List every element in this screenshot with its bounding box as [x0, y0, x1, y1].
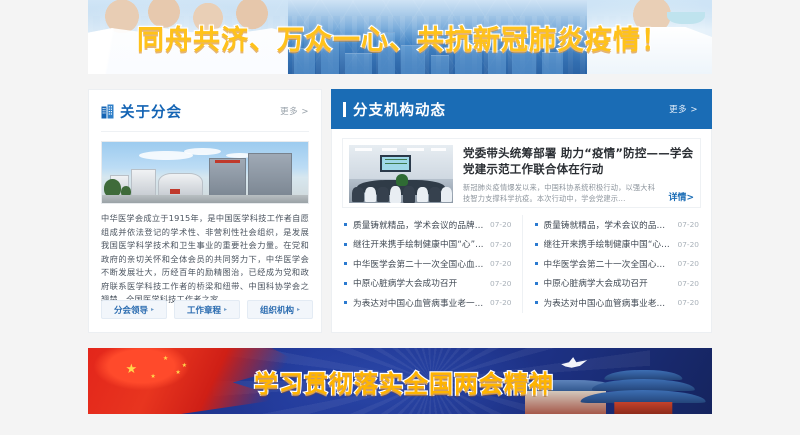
bullet-icon — [344, 282, 347, 285]
list-item-date: 07-20 — [490, 259, 511, 268]
branch-news-header: 分支机构动态 更多 > — [331, 89, 712, 129]
featured-news-title[interactable]: 党委带头统筹部署 助力“疫情”防控——学会党建示范工作联合体在行动 — [463, 145, 694, 178]
about-card-title: 关于分会 — [120, 101, 182, 122]
branch-leaders-label: 分会领导 — [114, 304, 148, 316]
page-root: 同舟共济、万众一心、共抗新冠肺炎疫情！ — [0, 0, 800, 435]
featured-news-description: 新冠肺炎疫情爆发以来，中国科协系统积极行动，以强大科技智力支撑科学抗疫。本次行动… — [463, 182, 660, 205]
news-list-left: 质量铸就精品，学术会议的品牌发... 07-20 继往开来携手绘制健康中国“心”… — [342, 215, 522, 313]
list-item-date: 07-20 — [678, 240, 699, 249]
list-item[interactable]: 中原心脏病学大会成功召开 07-20 — [344, 274, 512, 294]
branch-news-more-link[interactable]: 更多 > — [669, 103, 698, 115]
building-icon — [101, 104, 114, 119]
list-item-date: 07-20 — [490, 279, 511, 288]
bullet-icon — [535, 223, 538, 226]
list-item-title[interactable]: 继往开来携手绘制健康中国“心”... — [544, 238, 672, 250]
bullet-icon — [344, 301, 347, 304]
branch-news-card: 分支机构动态 更多 > — [331, 89, 712, 333]
about-card-body-text: 中华医学会成立于1915年，是中国医学科技工作者自愿组成并依法登记的学术性、非营… — [101, 212, 309, 307]
chevron-right-icon: ▸ — [151, 306, 154, 313]
chevron-right-icon: ▸ — [224, 306, 227, 313]
list-item-date: 07-20 — [678, 259, 699, 268]
list-item[interactable]: 继往开来携手绘制健康中国“心”... 07-20 — [344, 235, 512, 255]
list-item-date: 07-20 — [678, 220, 699, 229]
bullet-icon — [535, 282, 538, 285]
about-card-photo — [101, 141, 309, 204]
list-item-title[interactable]: 为表达对中国心血管病事业老一... — [353, 297, 484, 309]
bottom-banner-slogan: 学习贯彻落实全国两会精神 — [88, 348, 712, 414]
about-card-button-group: 分会领导 ▸ 工作章程 ▸ 组织机构 ▸ — [101, 300, 313, 319]
list-item-title[interactable]: 质量铸就精品，学术会议的品牌发... — [353, 219, 484, 231]
bullet-icon — [535, 243, 538, 246]
branch-news-title-group: 分支机构动态 — [343, 99, 446, 120]
bullet-icon — [535, 262, 538, 265]
list-item-title[interactable]: 质量铸就精品，学术会议的品牌发... — [544, 219, 672, 231]
list-item[interactable]: 为表达对中国心血管病事业老一... 07-20 — [535, 293, 700, 313]
list-item-date: 07-20 — [678, 298, 699, 307]
top-banner-slogan: 同舟共济、万众一心、共抗新冠肺炎疫情！ — [88, 0, 712, 74]
list-item-date: 07-20 — [678, 279, 699, 288]
bullet-icon — [344, 262, 347, 265]
news-lists: 质量铸就精品，学术会议的品牌发... 07-20 继往开来携手绘制健康中国“心”… — [342, 215, 701, 313]
list-item-title[interactable]: 继往开来携手绘制健康中国“心”... — [353, 238, 484, 250]
list-item-title[interactable]: 中原心脏病学大会成功召开 — [353, 277, 484, 289]
bullet-icon — [344, 223, 347, 226]
about-card-title-group: 关于分会 — [101, 101, 182, 122]
content-row: 关于分会 更多 > 中华医学会成立于1915年，是中国医学科 — [88, 89, 712, 333]
list-item[interactable]: 质量铸就精品，学术会议的品牌发... 07-20 — [344, 215, 512, 235]
list-item-title[interactable]: 中华医学会第二十一次全国心血管... — [544, 258, 672, 270]
bullet-icon — [535, 301, 538, 304]
list-item-title[interactable]: 中华医学会第二十一次全国心血管... — [353, 258, 484, 270]
work-charter-label: 工作章程 — [187, 304, 221, 316]
about-branch-card: 关于分会 更多 > 中华医学会成立于1915年，是中国医学科 — [88, 89, 322, 333]
list-item-date: 07-20 — [490, 220, 511, 229]
bottom-banner[interactable]: ★ ★ ★ ★ ★ 学习贯彻落实全国两会精神 — [88, 348, 712, 414]
work-charter-button[interactable]: 工作章程 ▸ — [174, 300, 240, 319]
organization-structure-label: 组织机构 — [260, 304, 294, 316]
branch-news-title: 分支机构动态 — [353, 99, 446, 120]
list-item[interactable]: 中华医学会第二十一次全国心血管... 07-20 — [535, 254, 700, 274]
featured-news-text: 党委带头统筹部署 助力“疫情”防控——学会党建示范工作联合体在行动 新冠肺炎疫情… — [463, 145, 694, 201]
bullet-icon — [344, 243, 347, 246]
featured-news-detail-link[interactable]: 详情> — [668, 190, 694, 205]
list-item-date: 07-20 — [490, 240, 511, 249]
featured-news-thumbnail — [349, 145, 453, 203]
list-item[interactable]: 继往开来携手绘制健康中国“心”... 07-20 — [535, 235, 700, 255]
organization-structure-button[interactable]: 组织机构 ▸ — [247, 300, 313, 319]
list-item[interactable]: 中华医学会第二十一次全国心血管... 07-20 — [344, 254, 512, 274]
list-item-title[interactable]: 为表达对中国心血管病事业老一... — [544, 297, 672, 309]
title-accent-bar-icon — [343, 102, 346, 117]
top-banner[interactable]: 同舟共济、万众一心、共抗新冠肺炎疫情！ — [88, 0, 712, 74]
featured-news-item[interactable]: 党委带头统筹部署 助力“疫情”防控——学会党建示范工作联合体在行动 新冠肺炎疫情… — [342, 138, 701, 208]
about-card-header: 关于分会 更多 > — [101, 94, 309, 128]
list-item-title[interactable]: 中原心脏病学大会成功召开 — [544, 277, 672, 289]
news-list-right: 质量铸就精品，学术会议的品牌发... 07-20 继往开来携手绘制健康中国“心”… — [522, 215, 702, 313]
chevron-right-icon: ▸ — [297, 306, 300, 313]
about-card-divider — [101, 131, 309, 132]
list-item[interactable]: 中原心脏病学大会成功召开 07-20 — [535, 274, 700, 294]
branch-news-body: 党委带头统筹部署 助力“疫情”防控——学会党建示范工作联合体在行动 新冠肺炎疫情… — [331, 129, 712, 333]
list-item[interactable]: 为表达对中国心血管病事业老一... 07-20 — [344, 293, 512, 313]
list-item-date: 07-20 — [490, 298, 511, 307]
photo-ground-decor — [102, 195, 308, 203]
branch-leaders-button[interactable]: 分会领导 ▸ — [101, 300, 167, 319]
featured-news-bottom: 新冠肺炎疫情爆发以来，中国科协系统积极行动，以强大科技智力支撑科学抗疫。本次行动… — [463, 182, 694, 205]
list-item[interactable]: 质量铸就精品，学术会议的品牌发... 07-20 — [535, 215, 700, 235]
about-card-more-link[interactable]: 更多 > — [280, 105, 309, 117]
